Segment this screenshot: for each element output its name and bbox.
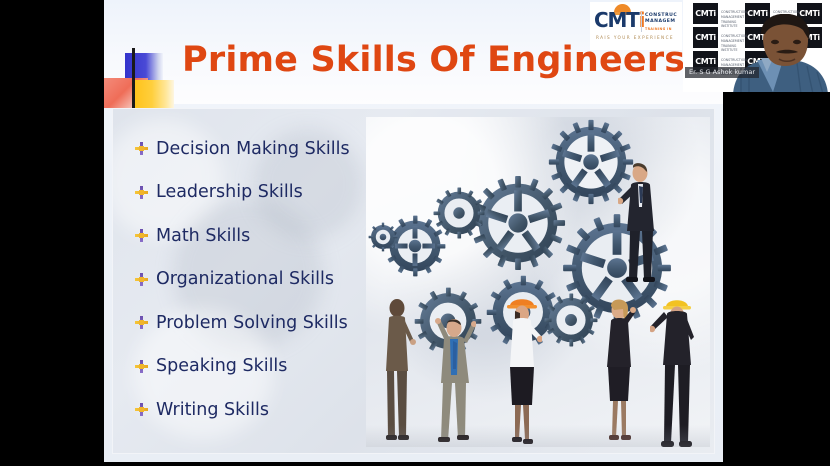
left-black-gutter	[0, 0, 104, 466]
list-item[interactable]: Writing Skills	[135, 388, 385, 432]
plus-bullet-icon	[135, 316, 148, 329]
slide-content-box: Decision Making Skills Leadership Skills…	[112, 108, 715, 454]
cmti-name-line-2: MANAGEM	[645, 19, 677, 25]
illustration-floor-shadow	[366, 425, 710, 447]
plus-bullet-icon	[135, 229, 148, 242]
plus-bullet-icon	[135, 186, 148, 199]
decor-yellow-square	[134, 80, 174, 109]
list-item-label: Math Skills	[156, 226, 250, 246]
person-woman-orange-helmet	[502, 289, 542, 447]
list-item-label: Speaking Skills	[156, 356, 287, 376]
cmti-name-line-3: TRAINING IN	[645, 26, 677, 32]
gear-small-bottom-center	[544, 293, 598, 347]
list-item[interactable]: Math Skills	[135, 214, 385, 258]
shared-presentation-slide[interactable]: Prime Skills Of Engineers Decision Makin…	[104, 0, 723, 462]
list-item[interactable]: Problem Solving Skills	[135, 301, 385, 345]
decor-accent-bar	[132, 48, 135, 108]
gears-illustration	[366, 117, 710, 447]
participant-video-tile[interactable]: CMTi CMTi CMTi CMTi CMTi CMTi CMTi CMTi …	[683, 0, 830, 92]
backdrop-logo-mark: CMTi	[695, 57, 715, 66]
backdrop-logo-mark: CMTi	[695, 33, 715, 42]
list-item[interactable]: Leadership Skills	[135, 171, 385, 215]
person-man-yellow-helmet	[650, 291, 696, 447]
video-call-screen: Prime Skills Of Engineers Decision Makin…	[0, 0, 830, 466]
plus-bullet-icon	[135, 273, 148, 286]
list-item-label: Organizational Skills	[156, 269, 334, 289]
list-item[interactable]: Organizational Skills	[135, 258, 385, 302]
list-item-label: Decision Making Skills	[156, 139, 350, 159]
cmti-logo: CMTi RAIS YOUR EXPERIENCE CONSTRUC MANAG…	[590, 2, 682, 50]
bottom-black-gutter	[0, 462, 830, 466]
skills-bullet-list: Decision Making Skills Leadership Skills…	[135, 127, 385, 432]
cmti-mark-text: CMT	[594, 11, 639, 29]
list-item-label: Writing Skills	[156, 400, 269, 420]
list-item[interactable]: Decision Making Skills	[135, 127, 385, 171]
list-item-label: Leadership Skills	[156, 182, 303, 202]
gear-small-far-left	[368, 222, 398, 252]
right-black-gutter	[723, 92, 830, 466]
cmti-tagline: RAIS YOUR EXPERIENCE	[596, 35, 674, 40]
cmti-wordmark: CMTi	[594, 11, 644, 29]
backdrop-logo-mark: CMTi	[695, 9, 715, 18]
speaker-webcam-image	[727, 14, 830, 92]
plus-bullet-icon	[135, 142, 148, 155]
plus-bullet-icon	[135, 360, 148, 373]
backdrop-logo-tile: CMTi	[693, 3, 718, 24]
list-item-label: Problem Solving Skills	[156, 313, 348, 333]
participant-name-badge: Er. S G Ashok kumar	[685, 67, 759, 78]
person-man-navy-suit-top	[618, 161, 658, 290]
backdrop-logo-tile: CMTi	[693, 27, 718, 48]
list-item[interactable]: Speaking Skills	[135, 345, 385, 389]
plus-bullet-icon	[135, 403, 148, 416]
cmti-full-name: CONSTRUC MANAGEM TRAINING IN	[645, 13, 677, 32]
logo-divider	[641, 12, 642, 32]
slide-background: Prime Skills Of Engineers Decision Makin…	[104, 0, 723, 462]
